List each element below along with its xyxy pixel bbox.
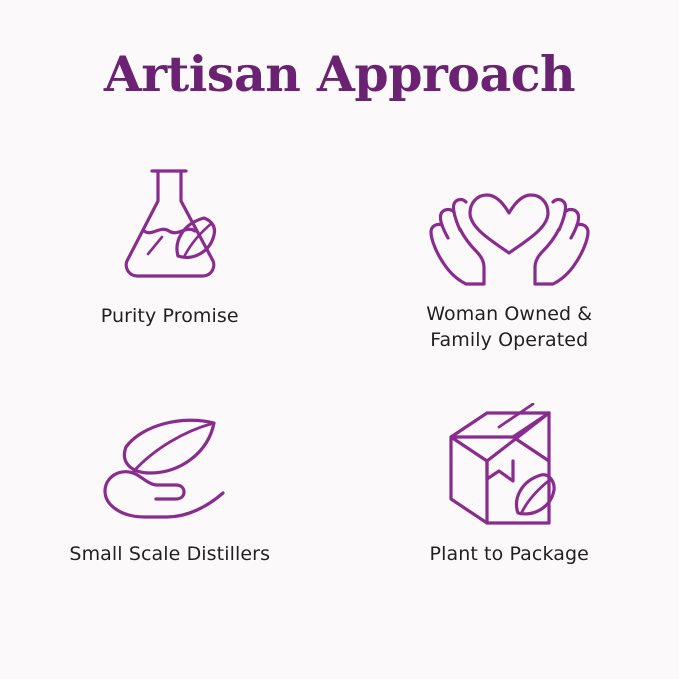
feature-label: Small Scale Distillers	[69, 542, 270, 568]
feature-item-small-scale-distillers: Small Scale Distillers	[0, 400, 340, 650]
flask-with-leaf-icon	[100, 150, 240, 300]
feature-label: Purity Promise	[101, 304, 239, 330]
page-title: Artisan Approach	[0, 48, 679, 102]
hands-holding-heart-icon	[422, 150, 597, 300]
feature-item-woman-owned: Woman Owned &Family Operated	[340, 150, 679, 400]
feature-item-plant-to-package: Plant to Package	[340, 400, 679, 650]
artisan-approach-panel: Artisan Approach Purity Promise	[0, 0, 679, 679]
package-box-with-leaf-icon	[429, 400, 589, 540]
feature-label-line1: Woman Owned &	[426, 303, 592, 325]
feature-label-line2: Family Operated	[430, 329, 588, 351]
feature-item-purity-promise: Purity Promise	[0, 150, 340, 400]
hand-holding-leaf-icon	[90, 400, 250, 540]
feature-label: Plant to Package	[430, 542, 589, 568]
feature-label: Woman Owned &Family Operated	[426, 302, 592, 353]
feature-grid: Purity Promise Woman Owned &Family O	[0, 150, 679, 650]
